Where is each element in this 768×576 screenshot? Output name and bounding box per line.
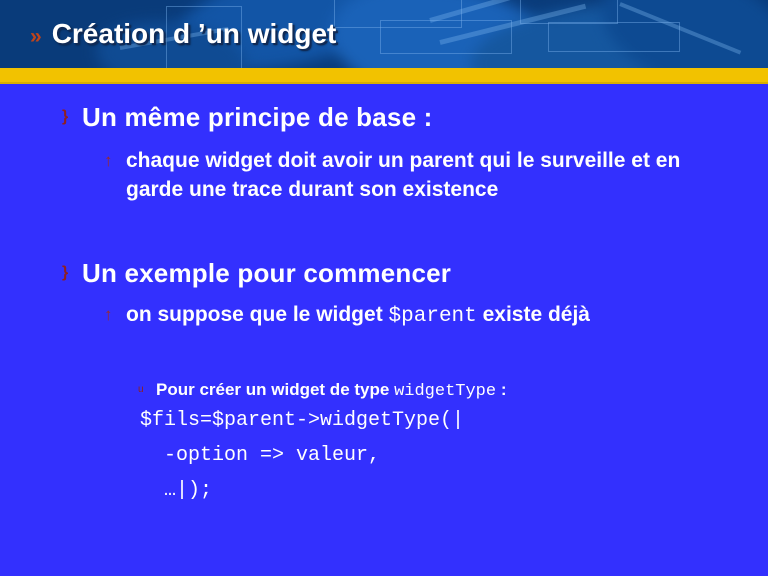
inline-code-parent: $parent (389, 305, 477, 328)
chevron-double-right-icon: » (30, 26, 40, 47)
page-title: Création d ’un widget (52, 18, 337, 50)
bullet-level2-item: ↑ on suppose que le widget $parent exist… (104, 300, 716, 331)
bullet-level3-icon: u (138, 378, 156, 402)
bullet-level1-label: Un exemple pour commencer (82, 256, 451, 290)
bullet-level1-item: } Un exemple pour commencer (56, 256, 451, 290)
bullet-level2-icon: ↑ (104, 300, 126, 329)
bullet-level2-label: on suppose que le widget $parent existe … (126, 300, 590, 331)
bullet-level2-label: chaque widget doit avoir un parent qui l… (126, 146, 712, 204)
slide: » Création d ’un widget } Un même princi… (0, 0, 768, 576)
header-accent-band (0, 68, 768, 82)
bullet-level3-label: Pour créer un widget de type widgetType … (156, 378, 506, 404)
bullet-level3-item: u Pour créer un widget de type widgetTyp… (138, 378, 704, 404)
code-line: …|); (140, 478, 212, 504)
bullet-level2-text-after: existe déjà (477, 303, 590, 326)
inline-code-widgettype: widgetType (394, 382, 496, 401)
bullet-level2-text-before: on suppose que le widget (126, 303, 389, 326)
bullet-level1-item: } Un même principe de base : (56, 100, 433, 134)
slide-header: » Création d ’un widget (0, 0, 768, 68)
slide-body: } Un même principe de base : ↑ chaque wi… (0, 84, 768, 576)
code-line: $fils=$parent->widgetType(| (140, 408, 464, 434)
slide-title-row: » Création d ’un widget (0, 0, 336, 68)
bullet-level3-text-before: Pour créer un widget de type (156, 380, 394, 399)
bullet-level1-icon: } (56, 100, 82, 134)
bullet-level1-icon: } (56, 256, 82, 290)
bullet-level2-item: ↑ chaque widget doit avoir un parent qui… (104, 146, 712, 204)
bullet-level2-icon: ↑ (104, 146, 126, 175)
code-line: -option => valeur, (140, 443, 380, 469)
bullet-level1-label: Un même principe de base : (82, 100, 433, 134)
bullet-level3-text-after: : (496, 380, 506, 399)
